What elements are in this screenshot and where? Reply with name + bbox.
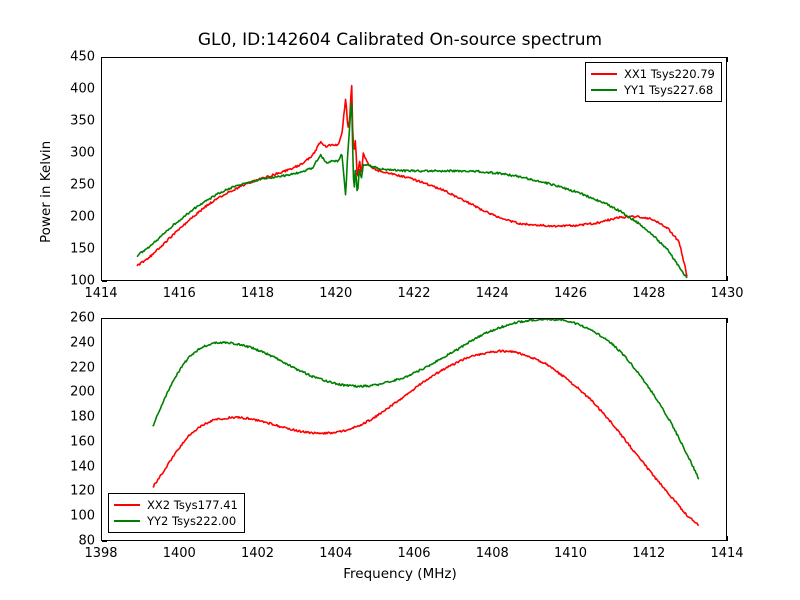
x-tick-label: 1428: [632, 286, 665, 301]
legend-entry: XX1 Tsys220.79: [591, 66, 715, 82]
x-tick-label: 1406: [397, 546, 430, 561]
x-tick-label: 1412: [632, 546, 665, 561]
x-tick-mark-top: [727, 318, 728, 323]
legend-color-swatch: [114, 520, 140, 522]
y-tick-label: 400: [57, 82, 95, 97]
legend-label: XX1 Tsys220.79: [624, 67, 715, 81]
y-tick-mark: [102, 541, 107, 542]
x-tick-label: 1416: [163, 286, 196, 301]
y-tick-label: 180: [57, 410, 95, 425]
legend-label: XX2 Tsys177.41: [147, 498, 238, 512]
x-tick-label: 1430: [710, 286, 743, 301]
legend-entry: YY1 Tsys227.68: [591, 82, 715, 98]
y-tick-label: 160: [57, 434, 95, 449]
x-tick-label: 1414: [84, 286, 117, 301]
y-axis-label-top: Power in Kelvin: [38, 141, 54, 243]
legend-bottom: XX2 Tsys177.41YY2 Tsys222.00: [108, 493, 245, 533]
y-tick-label: 300: [57, 146, 95, 161]
legend-label: YY1 Tsys227.68: [624, 83, 713, 97]
x-tick-mark: [727, 276, 728, 281]
spectrum-trace: [153, 319, 699, 479]
y-tick-label: 240: [57, 335, 95, 350]
y-tick-label: 250: [57, 178, 95, 193]
y-tick-label: 140: [57, 459, 95, 474]
y-tick-label: 200: [57, 385, 95, 400]
x-tick-label: 1400: [163, 546, 196, 561]
x-tick-label: 1422: [397, 286, 430, 301]
x-tick-label: 1404: [319, 546, 352, 561]
x-tick-label: 1424: [476, 286, 509, 301]
matplotlib-figure: GL0, ID:142604 Calibrated On-source spec…: [0, 0, 800, 600]
x-tick-label: 1414: [710, 546, 743, 561]
spectrum-trace: [137, 103, 687, 278]
x-axis-label: Frequency (MHz): [0, 566, 800, 582]
x-tick-label: 1418: [241, 286, 274, 301]
legend-color-swatch: [114, 504, 140, 506]
legend-label: YY2 Tsys222.00: [147, 514, 236, 528]
legend-entry: YY2 Tsys222.00: [114, 513, 238, 529]
y-tick-label: 200: [57, 210, 95, 225]
x-tick-label: 1426: [554, 286, 587, 301]
y-tick-label: 350: [57, 114, 95, 129]
y-tick-label: 450: [57, 50, 95, 65]
x-tick-mark: [727, 536, 728, 541]
y-tick-label: 100: [57, 509, 95, 524]
legend-color-swatch: [591, 73, 617, 75]
figure-title: GL0, ID:142604 Calibrated On-source spec…: [0, 30, 800, 50]
y-tick-mark: [102, 281, 107, 282]
y-tick-label: 150: [57, 242, 95, 257]
x-tick-label: 1402: [241, 546, 274, 561]
y-tick-label: 120: [57, 484, 95, 499]
y-tick-label: 220: [57, 360, 95, 375]
y-tick-label: 260: [57, 311, 95, 326]
x-tick-label: 1398: [84, 546, 117, 561]
x-tick-label: 1410: [554, 546, 587, 561]
x-tick-label: 1408: [476, 546, 509, 561]
legend-top: XX1 Tsys220.79YY1 Tsys227.68: [585, 62, 722, 102]
spectrum-trace: [137, 86, 687, 277]
legend-color-swatch: [591, 89, 617, 91]
legend-entry: XX2 Tsys177.41: [114, 497, 238, 513]
x-tick-label: 1420: [319, 286, 352, 301]
x-tick-mark-top: [727, 57, 728, 62]
